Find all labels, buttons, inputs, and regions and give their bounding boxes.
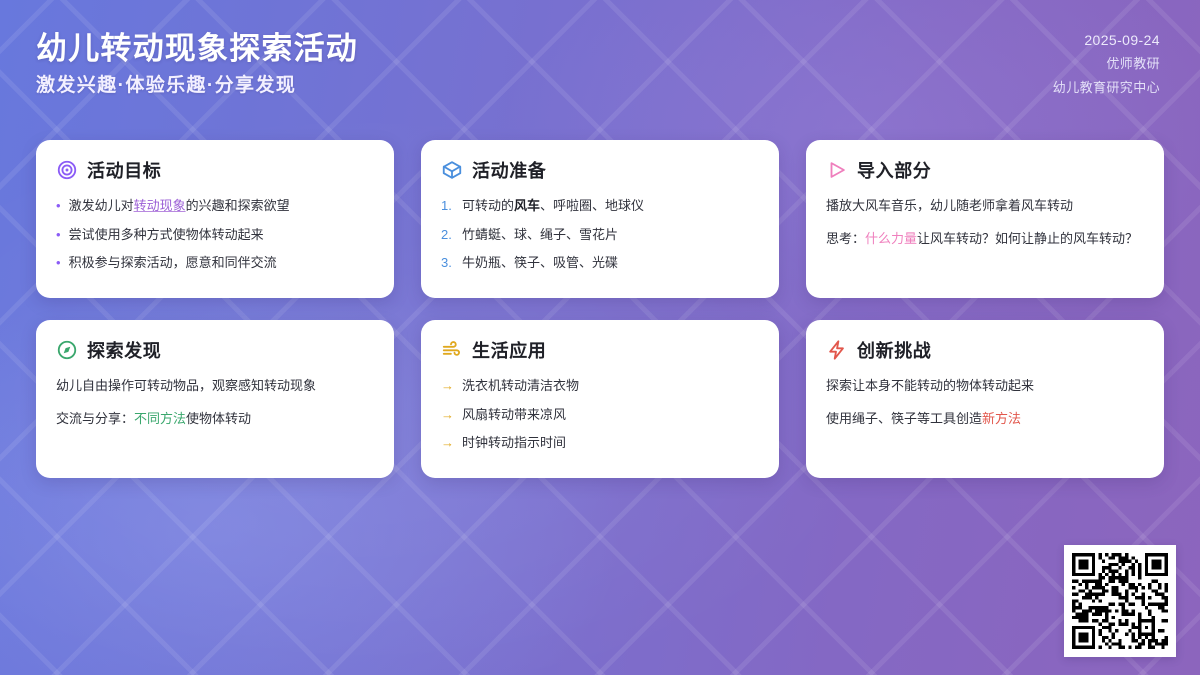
header-title-block: 幼儿转动现象探索活动 激发兴趣·体验乐趣·分享发现 xyxy=(36,32,358,97)
list-item-text: 可转动的风车、呼啦圈、地球仪 xyxy=(462,196,644,216)
highlighted-text: 转动现象 xyxy=(134,198,186,213)
list-item: •激发幼儿对转动现象的兴趣和探索欲望 xyxy=(56,196,374,216)
qr-code-container[interactable] xyxy=(1064,545,1176,657)
card-explore-discover: 探索发现幼儿自由操作可转动物品，观察感知转动现象交流与分享：不同方法使物体转动 xyxy=(36,320,394,478)
page-subtitle: 激发兴趣·体验乐趣·分享发现 xyxy=(36,76,358,97)
bullet-marker: • xyxy=(56,196,61,216)
qr-code[interactable] xyxy=(1072,553,1168,649)
bullet-marker: • xyxy=(56,253,61,273)
text-run: 风扇转动带来凉风 xyxy=(462,407,566,422)
list-item: 2.竹蜻蜓、球、绳子、雪花片 xyxy=(441,225,759,245)
card-title: 创新挑战 xyxy=(857,337,931,363)
text-run: 、呼啦圈、地球仪 xyxy=(540,198,644,213)
list-item-text: 积极参与探索活动，愿意和同伴交流 xyxy=(69,253,277,273)
card-paragraph: 播放大风车音乐，幼儿随老师拿着风车转动 xyxy=(826,196,1144,217)
list-item-text: 尝试使用多种方式使物体转动起来 xyxy=(69,225,264,245)
card-innovation-challenge: 创新挑战探索让本身不能转动的物体转动起来使用绳子、筷子等工具创造新方法 xyxy=(806,320,1164,478)
list-item-text: 激发幼儿对转动现象的兴趣和探索欲望 xyxy=(69,196,290,216)
text-run: 播放大风车音乐，幼儿随老师拿着风车转动 xyxy=(826,198,1073,213)
list-item-text: 牛奶瓶、筷子、吸管、光碟 xyxy=(462,253,618,273)
text-run: 使物体转动 xyxy=(186,411,251,426)
text-run: 交流与分享： xyxy=(56,411,134,426)
number-marker: 1. xyxy=(441,196,454,216)
card-list: 1.可转动的风车、呼啦圈、地球仪2.竹蜻蜓、球、绳子、雪花片3.牛奶瓶、筷子、吸… xyxy=(441,196,759,273)
list-item: →时钟转动指示时间 xyxy=(441,433,759,453)
meta-center: 幼儿教育研究中心 xyxy=(1053,77,1160,96)
text-run: 可转动的 xyxy=(462,198,514,213)
list-item-text: 竹蜻蜓、球、绳子、雪花片 xyxy=(462,225,618,245)
card-grid: 活动目标•激发幼儿对转动现象的兴趣和探索欲望•尝试使用多种方式使物体转动起来•积… xyxy=(36,140,1164,478)
text-run: 积极参与探索活动，愿意和同伴交流 xyxy=(69,255,277,270)
list-item: •积极参与探索活动，愿意和同伴交流 xyxy=(56,253,374,273)
card-header: 活动目标 xyxy=(56,157,374,183)
card-title: 活动目标 xyxy=(87,157,161,183)
card-title: 导入部分 xyxy=(857,157,931,183)
card-header: 活动准备 xyxy=(441,157,759,183)
text-run: 时钟转动指示时间 xyxy=(462,435,566,450)
zap-icon xyxy=(826,339,848,361)
list-item: →风扇转动带来凉风 xyxy=(441,405,759,425)
card-life-application: 生活应用→洗衣机转动清洁衣物→风扇转动带来凉风→时钟转动指示时间 xyxy=(421,320,779,478)
slide-canvas: 幼儿转动现象探索活动 激发兴趣·体验乐趣·分享发现 2025-09-24 优师教… xyxy=(0,0,1200,675)
bullet-marker: • xyxy=(56,225,61,245)
wind-icon xyxy=(441,339,463,361)
card-paragraph: 交流与分享：不同方法使物体转动 xyxy=(56,409,374,430)
highlighted-text: 风车 xyxy=(514,198,540,213)
list-item-text: 风扇转动带来凉风 xyxy=(462,405,566,425)
card-header: 创新挑战 xyxy=(826,337,1144,363)
card-activity-goals: 活动目标•激发幼儿对转动现象的兴趣和探索欲望•尝试使用多种方式使物体转动起来•积… xyxy=(36,140,394,298)
card-list: •激发幼儿对转动现象的兴趣和探索欲望•尝试使用多种方式使物体转动起来•积极参与探… xyxy=(56,196,374,273)
play-triangle-icon xyxy=(826,159,848,181)
text-run: 尝试使用多种方式使物体转动起来 xyxy=(69,227,264,242)
text-run: 激发幼儿对 xyxy=(69,198,134,213)
text-run: 思考： xyxy=(826,231,865,246)
card-paragraph: 思考：什么力量让风车转动？如何让静止的风车转动？ xyxy=(826,229,1144,250)
card-paragraph: 幼儿自由操作可转动物品，观察感知转动现象 xyxy=(56,376,374,397)
text-run: 竹蜻蜓、球、绳子、雪花片 xyxy=(462,227,618,242)
arrow-marker: → xyxy=(441,405,454,425)
number-marker: 2. xyxy=(441,225,454,245)
compass-icon xyxy=(56,339,78,361)
highlighted-text: 新方法 xyxy=(982,411,1021,426)
highlighted-text: 不同方法 xyxy=(134,411,186,426)
list-item: 3.牛奶瓶、筷子、吸管、光碟 xyxy=(441,253,759,273)
card-header: 导入部分 xyxy=(826,157,1144,183)
header-meta-block: 2025-09-24 优师教研 幼儿教育研究中心 xyxy=(1053,32,1160,96)
card-header: 生活应用 xyxy=(441,337,759,363)
slide-header: 幼儿转动现象探索活动 激发兴趣·体验乐趣·分享发现 2025-09-24 优师教… xyxy=(0,0,1200,128)
card-title: 生活应用 xyxy=(472,337,546,363)
list-item-text: 洗衣机转动清洁衣物 xyxy=(462,376,579,396)
card-header: 探索发现 xyxy=(56,337,374,363)
list-item: →洗衣机转动清洁衣物 xyxy=(441,376,759,396)
card-introduction-section: 导入部分播放大风车音乐，幼儿随老师拿着风车转动思考：什么力量让风车转动？如何让静… xyxy=(806,140,1164,298)
text-run: 的兴趣和探索欲望 xyxy=(186,198,290,213)
page-title: 幼儿转动现象探索活动 xyxy=(36,32,358,66)
arrow-marker: → xyxy=(441,433,454,453)
package-icon xyxy=(441,159,463,181)
meta-organization: 优师教研 xyxy=(1106,53,1160,72)
list-item: 1.可转动的风车、呼啦圈、地球仪 xyxy=(441,196,759,216)
card-title: 活动准备 xyxy=(472,157,546,183)
arrow-marker: → xyxy=(441,376,454,396)
text-run: 探索让本身不能转动的物体转动起来 xyxy=(826,378,1034,393)
list-item-text: 时钟转动指示时间 xyxy=(462,433,566,453)
number-marker: 3. xyxy=(441,253,454,273)
highlighted-text: 什么力量 xyxy=(865,231,917,246)
text-run: 使用绳子、筷子等工具创造 xyxy=(826,411,982,426)
card-activity-preparation: 活动准备1.可转动的风车、呼啦圈、地球仪2.竹蜻蜓、球、绳子、雪花片3.牛奶瓶、… xyxy=(421,140,779,298)
card-list: →洗衣机转动清洁衣物→风扇转动带来凉风→时钟转动指示时间 xyxy=(441,376,759,453)
text-run: 洗衣机转动清洁衣物 xyxy=(462,378,579,393)
card-paragraph: 使用绳子、筷子等工具创造新方法 xyxy=(826,409,1144,430)
card-title: 探索发现 xyxy=(87,337,161,363)
text-run: 让风车转动？如何让静止的风车转动？ xyxy=(917,231,1138,246)
text-run: 牛奶瓶、筷子、吸管、光碟 xyxy=(462,255,618,270)
list-item: •尝试使用多种方式使物体转动起来 xyxy=(56,225,374,245)
card-paragraph: 探索让本身不能转动的物体转动起来 xyxy=(826,376,1144,397)
text-run: 幼儿自由操作可转动物品，观察感知转动现象 xyxy=(56,378,316,393)
target-icon xyxy=(56,159,78,181)
meta-date: 2025-09-24 xyxy=(1084,32,1160,48)
